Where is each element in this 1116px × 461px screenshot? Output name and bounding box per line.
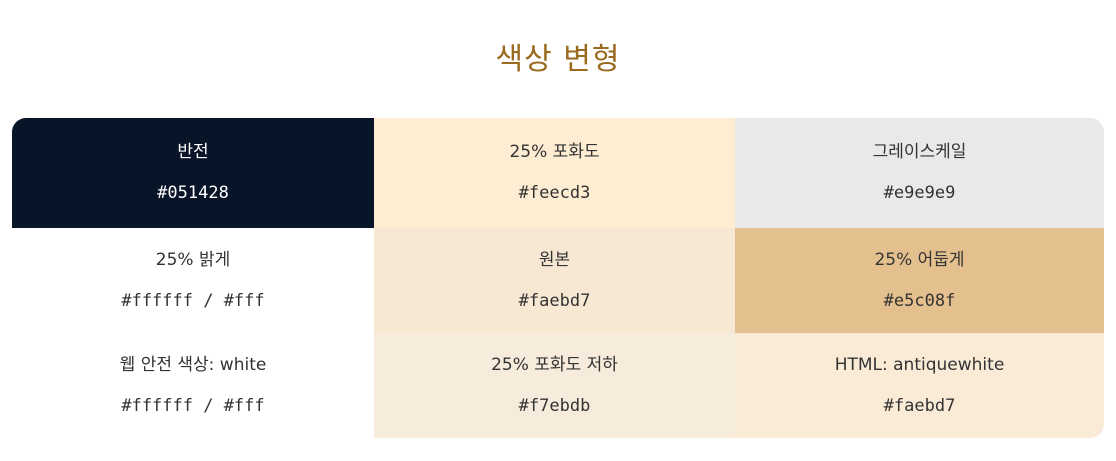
swatch-value: #e9e9e9 — [884, 182, 956, 204]
swatch-label: 25% 포화도 저하 — [491, 354, 618, 377]
swatch-inverted[interactable]: 반전 #051428 — [12, 118, 374, 228]
swatch-darken-25[interactable]: 25% 어둡게 #e5c08f — [735, 228, 1104, 333]
swatch-label: 웹 안전 색상: white — [120, 354, 267, 377]
page-title: 색상 변형 — [0, 0, 1116, 78]
swatch-desaturate-25[interactable]: 25% 포화도 저하 #f7ebdb — [374, 333, 735, 438]
swatch-grayscale[interactable]: 그레이스케일 #e9e9e9 — [735, 118, 1104, 228]
swatch-value: #faebd7 — [519, 290, 591, 312]
swatch-value: #051428 — [157, 182, 229, 204]
swatch-value: #f7ebdb — [519, 395, 591, 417]
swatch-label: 반전 — [177, 141, 208, 164]
swatch-html-name[interactable]: HTML: antiquewhite #faebd7 — [735, 333, 1104, 438]
swatch-saturate-25[interactable]: 25% 포화도 #feecd3 — [374, 118, 735, 228]
swatch-lighten-25[interactable]: 25% 밝게 #ffffff / #fff — [12, 228, 374, 333]
swatch-label: 25% 어둡게 — [874, 249, 964, 272]
swatch-websafe[interactable]: 웹 안전 색상: white #ffffff / #fff — [12, 333, 374, 438]
swatch-label: 25% 포화도 — [509, 141, 599, 164]
color-variations-page: 색상 변형 반전 #051428 25% 포화도 #feecd3 그레이스케일 … — [0, 0, 1116, 461]
swatch-label: 그레이스케일 — [873, 141, 967, 164]
swatch-label: 25% 밝게 — [156, 249, 230, 272]
swatch-label: HTML: antiquewhite — [835, 354, 1005, 377]
swatch-original[interactable]: 원본 #faebd7 — [374, 228, 735, 333]
swatch-label: 원본 — [539, 249, 570, 272]
swatch-value: #ffffff / #fff — [121, 395, 264, 417]
color-variation-grid: 반전 #051428 25% 포화도 #feecd3 그레이스케일 #e9e9e… — [12, 118, 1104, 438]
swatch-value: #e5c08f — [884, 290, 956, 312]
swatch-value: #feecd3 — [519, 182, 591, 204]
swatch-value: #faebd7 — [884, 395, 956, 417]
swatch-value: #ffffff / #fff — [121, 290, 264, 312]
